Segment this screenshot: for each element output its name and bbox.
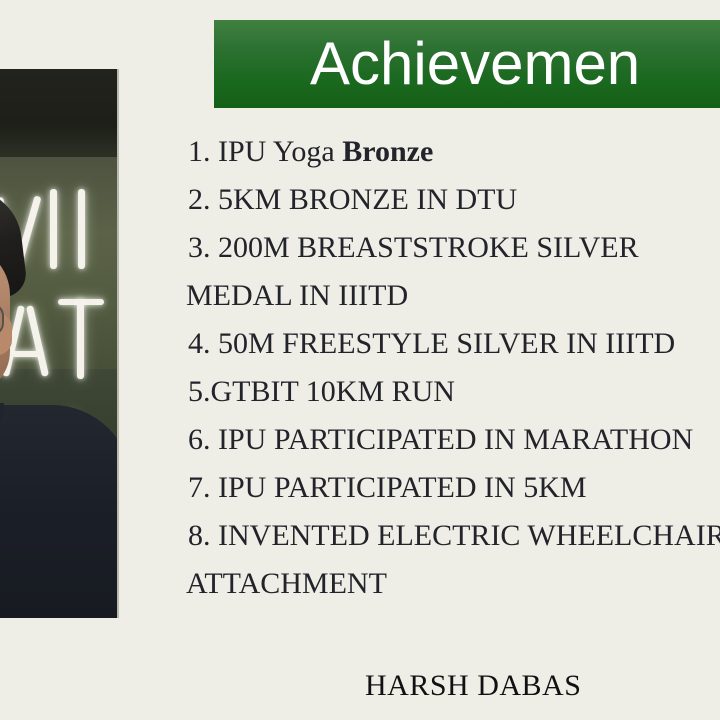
list-item: 5.GTBIT 10KM RUN <box>186 368 720 416</box>
list-item-continuation: ATTACHMENT <box>186 560 720 608</box>
list-item: 4. 50M FREESTYLE SILVER IN IIITD <box>186 320 720 368</box>
photo-image <box>0 69 117 618</box>
neon-letter-stroke-icon <box>12 351 42 357</box>
list-item: 2. 5KM BRONZE IN DTU <box>186 176 720 224</box>
slide-title-banner: Achievemen <box>214 20 720 108</box>
achievements-list: 1. IPU Yoga Bronze 2. 5KM BRONZE IN DTU … <box>186 128 720 608</box>
slide-title: Achievemen <box>310 34 640 94</box>
list-item: 1. IPU Yoga Bronze <box>186 128 720 176</box>
list-item-emphasis: Bronze <box>342 135 433 168</box>
list-item-continuation: MEDAL IN IIITD <box>186 272 720 320</box>
presenter-name: HARSH DABAS <box>365 668 581 704</box>
presentation-slide: Achievemen 1. IPU Yoga Bronze 2. 5KM BRO… <box>0 0 720 720</box>
presenter-photo <box>0 69 119 618</box>
neon-letter-stroke-icon <box>78 189 85 269</box>
neon-letter-stroke-icon <box>50 189 57 269</box>
photo-subject-shirt <box>0 405 117 618</box>
list-item: 6. IPU PARTICIPATED IN MARATHON <box>186 416 720 464</box>
list-item: 7. IPU PARTICIPATED IN 5KM <box>186 464 720 512</box>
photo-background-sky <box>0 69 117 161</box>
neon-letter-stroke-icon <box>77 299 84 379</box>
list-item: 3. 200M BREASTSTROKE SILVER <box>186 224 720 272</box>
list-item-text: 1. IPU Yoga <box>188 135 342 168</box>
list-item: 8. INVENTED ELECTRIC WHEELCHAIR <box>186 512 720 560</box>
